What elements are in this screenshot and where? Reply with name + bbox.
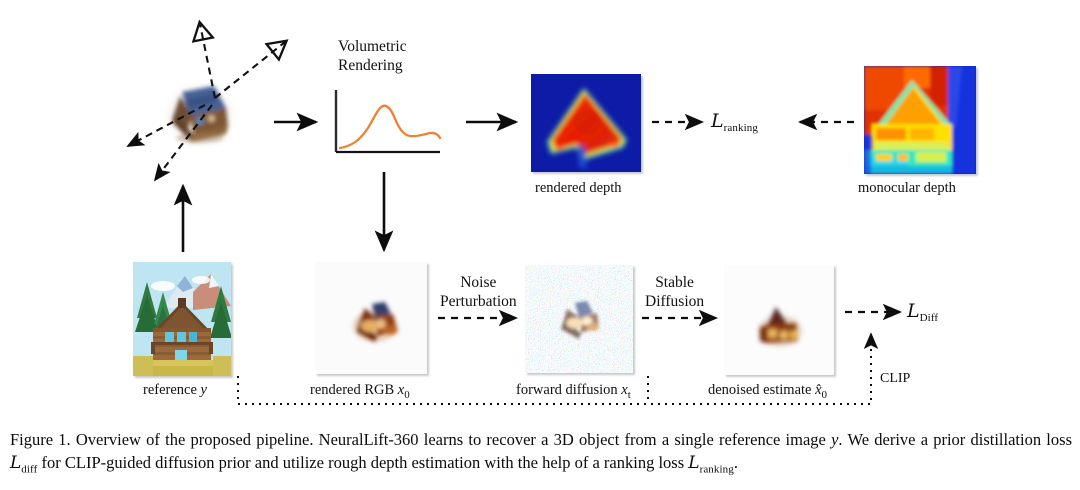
volumetric-rendering-line2: Rendering [338,57,407,76]
caption-part3: for CLIP-guided diffusion prior and util… [37,453,688,472]
caption-loss-diff-sub: diff [21,463,37,475]
denoised-estimate-caption-sub: 0 [822,389,828,401]
forward-diffusion-panel [525,265,633,373]
rendered-rgb-caption-text: rendered RGB [310,382,398,398]
rendered-depth-caption: rendered depth [535,180,622,198]
denoised-estimate-image [724,265,834,375]
stable-diffusion-line2: Diffusion [645,293,704,312]
caption-part4: . [734,453,738,472]
volumetric-density-plot-panel [330,88,445,168]
reference-image-caption: reference y [143,382,207,400]
diff-loss-subscript: Diff [920,312,939,324]
forward-diffusion-caption-text: forward diffusion [516,382,621,398]
noise-perturbation-line2: Perturbation [440,293,517,312]
density-curve-chart [330,88,445,168]
monocular-depth-caption: monocular depth [858,180,956,198]
ranking-loss-symbol: Lranking [711,110,758,135]
noise-perturbation-line1: Noise [440,274,517,293]
rendered-rgb-caption: rendered RGB x0 [310,382,410,402]
clip-label: CLIP [880,370,910,387]
rendered-rgb-image [315,262,427,374]
figure-caption: Figure 1. Overview of the proposed pipel… [10,428,1072,481]
forward-diffusion-caption-sub: t [628,389,631,401]
ranking-loss-subscript: ranking [724,122,758,134]
forward-diffusion-caption: forward diffusion xt [516,382,631,402]
reference-image [133,262,231,376]
rendered-rgb-panel [315,262,427,374]
caption-loss-ranking-sub: ranking [700,463,734,475]
denoised-estimate-caption-text: denoised estimate [708,382,815,398]
reference-caption-text: reference [143,382,201,398]
rendered-depth-panel [531,74,641,172]
denoised-estimate-caption: denoised estimate x̂0 [708,382,827,402]
figure-container: rendered depth [0,0,1080,490]
diff-loss-L: L [907,300,920,322]
multi-view-nerf-panel [130,38,258,176]
monocular-depth-panel [864,66,976,174]
volumetric-rendering-label: Volumetric Rendering [338,38,407,76]
noise-perturbation-label: Noise Perturbation [440,274,517,312]
diff-loss-symbol: LDiff [907,300,938,325]
rendered-rgb-caption-sub: 0 [404,389,410,401]
nerf-object-render [130,38,258,176]
caption-loss-ranking-L: L [688,453,699,473]
reference-caption-var: y [201,382,207,398]
reference-image-panel [133,262,231,376]
ranking-loss-L: L [711,110,724,132]
density-curve-line [340,106,440,148]
stable-diffusion-label: Stable Diffusion [645,274,704,312]
caption-part1: Overview of the proposed pipeline. Neura… [76,430,831,449]
denoised-estimate-panel [724,265,834,375]
stable-diffusion-line1: Stable [645,274,704,293]
figure-number: Figure 1. [10,430,71,449]
volumetric-rendering-line1: Volumetric [338,38,407,57]
rendered-depth-image [531,74,641,172]
monocular-depth-image [864,66,976,174]
caption-part2: . We derive a prior distillation loss [838,430,1072,449]
forward-diffusion-image [525,265,633,373]
caption-loss-diff-L: L [10,453,21,473]
